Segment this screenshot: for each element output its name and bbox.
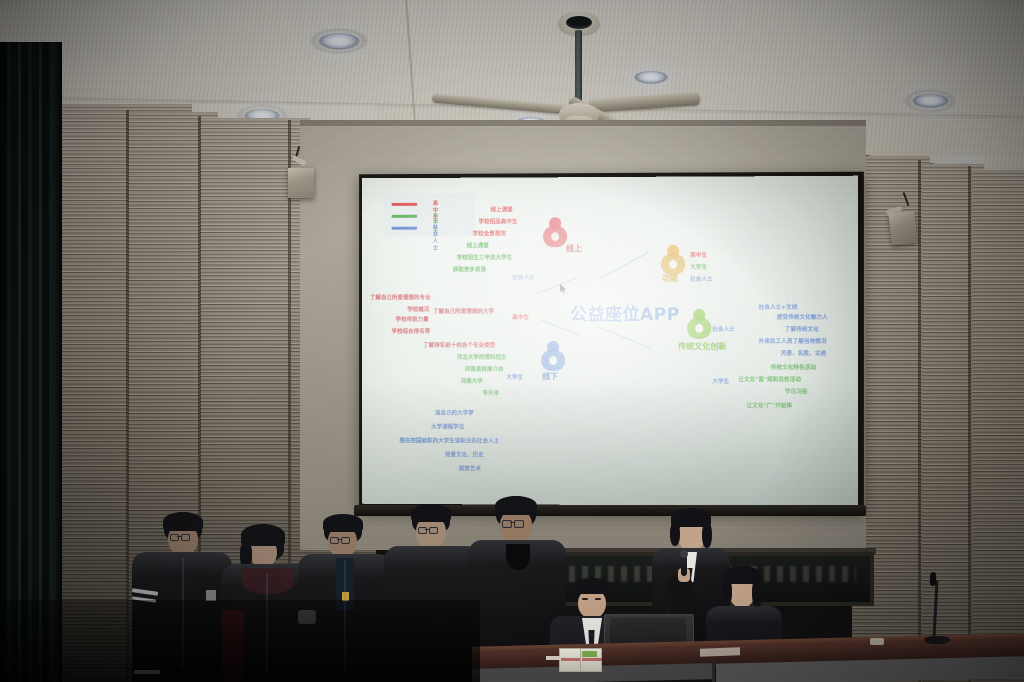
node-tag: 高中生 <box>690 251 707 259</box>
foreground-shadow <box>0 600 480 682</box>
downlight-5 <box>912 94 949 108</box>
branch-text: 感受传统文化魅力人 <box>777 313 828 321</box>
hair-side <box>702 522 712 548</box>
wall-right-shading <box>852 156 1024 682</box>
node-culture: 传统文化创新 <box>686 309 712 339</box>
branch-text: 学校招品高中生 <box>479 217 518 225</box>
speaker-left <box>288 168 314 198</box>
person-pin-head <box>693 309 705 321</box>
jacket-highlight <box>706 606 782 634</box>
branch-text: 了解传统文化 <box>785 325 819 333</box>
projection-screen: 高中生 大学生 社会人士 线上课堂 学校招品高中生 学校全景视完 线上课堂 学校… <box>362 176 858 507</box>
white-box-1[interactable] <box>559 648 581 672</box>
fan-mount-cap <box>566 16 592 29</box>
small-object[interactable] <box>870 638 884 645</box>
person-pin-hole <box>695 324 703 333</box>
hair-side <box>670 522 680 546</box>
desk-panel-seam <box>712 660 715 682</box>
branch-text: 河南高校推介会 <box>465 365 504 373</box>
person-pin-head <box>549 217 561 229</box>
branch-text: 社会人士+文创 <box>759 303 798 311</box>
microphone-icon[interactable] <box>930 572 937 586</box>
collar <box>506 544 530 570</box>
person-pin-hole <box>551 232 559 241</box>
pen[interactable] <box>546 656 560 660</box>
branch-text: 河北大学的理科招生 <box>457 353 507 361</box>
slide-title: 公益座位APP <box>570 300 680 325</box>
branch-text: 想在校园就职的大学生谋职业的社会人士 <box>399 436 499 444</box>
legend-swatch <box>392 227 418 230</box>
wall-seam <box>968 166 971 682</box>
branch-text: 外来民工人员了解当地情况 <box>759 337 827 345</box>
node-offline: 线下 <box>540 341 566 371</box>
node-tag: 高中生 <box>512 313 529 321</box>
node-function: 功能 <box>660 245 686 275</box>
branch-text: 学校招生三甲双大学生 <box>457 253 513 261</box>
front-wall-trim <box>300 120 866 126</box>
eyebrow <box>582 598 588 600</box>
eyebrow <box>595 598 601 600</box>
branch-text: 观赏艺术 <box>459 464 481 472</box>
wall-seam <box>126 110 129 682</box>
branch-text: 让文化"富"观和百姓活动 <box>738 375 801 383</box>
branch-text: 让文化"广"开始体 <box>747 401 793 409</box>
branch-text: 大学课程学位 <box>431 423 464 431</box>
papers-icon[interactable] <box>700 647 740 656</box>
stage-curtain <box>0 42 58 682</box>
sweater-highlight <box>384 546 480 584</box>
node-online-label: 线上 <box>566 243 582 254</box>
hair-side <box>722 578 732 606</box>
mouse-cursor-icon <box>560 284 566 293</box>
legend-label: 社会人士 <box>433 224 438 252</box>
branch-text: 学校概况 <box>407 305 429 313</box>
curtain-edge <box>52 42 62 682</box>
hair-front <box>323 514 363 532</box>
branch-text: 学校全景视完 <box>473 229 506 237</box>
node-tag: 社会人士 <box>690 275 713 283</box>
branch-text: 节日习俗 <box>785 387 808 395</box>
notepad-icon[interactable] <box>582 651 597 657</box>
wall-seam <box>918 160 921 682</box>
branch-connector <box>599 252 649 279</box>
node-offline-label: 线下 <box>542 371 558 382</box>
branch-connector <box>598 327 650 349</box>
hair-front <box>573 578 611 594</box>
node-tag: 社会人士 <box>512 273 534 281</box>
downlight-3 <box>634 71 668 84</box>
legend-swatch <box>392 215 418 218</box>
person-pin-hole <box>669 260 677 269</box>
node-tag: 大学生 <box>690 263 707 271</box>
downlight-1 <box>318 33 360 50</box>
collar <box>242 568 294 594</box>
hair-front <box>495 496 537 515</box>
node-online: 线上 <box>542 217 568 247</box>
node-tag: 社会人士 <box>712 325 735 333</box>
branch-text: 专升本 <box>483 389 500 397</box>
speaker-right <box>888 211 917 246</box>
branch-text: 学校师资力量 <box>395 315 428 323</box>
branch-text: 了解排名前十的各个专业类型 <box>423 341 495 349</box>
node-tag: 大学生 <box>712 377 729 385</box>
hair-front <box>163 512 203 531</box>
node-culture-label: 传统文化创新 <box>678 341 726 352</box>
branch-text: 河南大学 <box>461 377 483 385</box>
branch-text: 线上课堂 <box>490 205 512 213</box>
branch-text: 了解自己所爱理想的大学 <box>433 307 494 315</box>
branch-text: 获取更多资源 <box>453 265 486 273</box>
person-pin-hole <box>549 356 557 365</box>
branch-text: 风景、名胜、古迹 <box>781 349 826 357</box>
branch-text: 适自己的大学梦 <box>435 409 474 417</box>
node-tag: 大学生 <box>506 373 523 381</box>
branch-text: 学校综合排名等 <box>392 327 431 335</box>
hair-side <box>752 578 762 608</box>
lecture-hall-photo: 高中生 大学生 社会人士 线上课堂 学校招品高中生 学校全景视完 线上课堂 学校… <box>0 0 1024 682</box>
fan-rod <box>575 30 582 108</box>
microphone-base <box>924 636 950 644</box>
branch-text: 传统文化特色活动 <box>771 363 816 371</box>
node-function-label: 功能 <box>662 273 678 284</box>
branch-connector <box>538 277 577 294</box>
slide-legend: 高中生 大学生 社会人士 <box>384 194 475 237</box>
person-pin-head <box>667 245 679 257</box>
legend-swatch <box>392 203 418 206</box>
branch-text: 了解自己所爱理想的专业 <box>370 293 431 301</box>
hair-front <box>411 504 451 522</box>
branch-text: 背景文化、历史 <box>445 450 484 458</box>
person-pin-head <box>547 341 559 353</box>
branch-text: 线上课堂 <box>467 241 489 249</box>
microphone-head <box>680 550 688 558</box>
